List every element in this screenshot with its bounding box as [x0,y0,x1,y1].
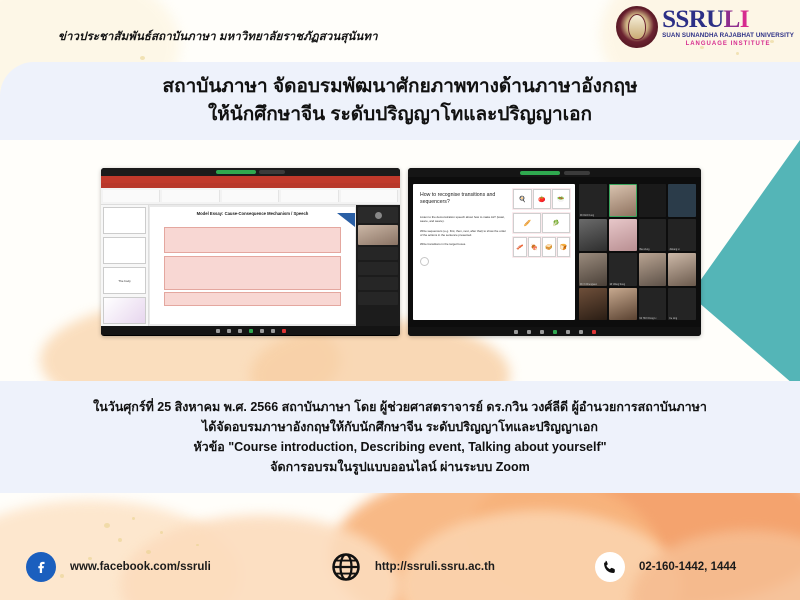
image-strip-row: 🍳 🍅 🥗 [512,188,571,210]
ribbon-group [222,190,279,202]
highlight-box [164,292,341,306]
footer-contact-row: www.facebook.com/ssruli http://ssruli.ss… [0,552,800,582]
slide-thumbnail[interactable]: The body [103,267,146,294]
participant-tile[interactable] [609,219,637,252]
footer-phone-item[interactable]: 02-160-1442, 1444 [595,552,736,582]
participant-name: Jinkang Li [669,249,679,251]
body-line-4: จัดการอบรมในรูปแบบออนไลน์ ผ่านระบบ Zoom [270,457,530,477]
participant-tile[interactable] [639,253,667,286]
slide-thumbnail[interactable] [103,237,146,264]
body-text-band: ในวันศุกร์ที่ 25 สิงหาคม พ.ศ. 2566 สถาบั… [0,381,800,493]
word-ribbon-body [101,188,400,205]
logo-wordmark: SSRULI SUAN SUNANDHA RAJABHAT UNIVERSITY… [662,7,794,46]
logo-l-text: L [724,6,740,33]
participant-tile[interactable] [609,288,637,321]
image-strip-row: 🥓 🍖 🥪 🍞 [512,236,571,258]
zoom-top-bar [408,168,701,177]
mute-icon[interactable] [216,329,220,333]
screenshot-word-share: The body Model Essay: Cause-Consequence … [101,168,400,336]
participant-tile[interactable] [579,288,607,321]
footer-facebook-item[interactable]: www.facebook.com/ssruli [26,552,211,582]
participant-tile[interactable] [639,184,667,217]
participants-icon[interactable] [238,329,242,333]
speaker-icon [420,257,429,266]
participant-name: Mr HCX Dong Li [640,318,657,320]
body-line-2: ได้จัดอบรมภาษาอังกฤษให้กับนักศึกษาจีน ระ… [202,417,598,437]
document-note [158,219,347,224]
slide-heading: How to recognise transitions and sequenc… [420,192,506,206]
end-meeting-icon[interactable] [592,330,596,334]
chat-icon[interactable] [566,330,570,334]
presenter-webcam-tile [358,225,398,245]
logo-i-text: I [740,6,749,33]
ribbon-group [162,190,219,202]
video-icon[interactable] [227,329,231,333]
phone-number-text[interactable]: 02-160-1442, 1444 [639,561,736,573]
image-cell: 🥗 [552,189,570,209]
participant-name: Mr Dinh Kung [580,215,594,217]
logo-main-text: SSRULI [662,7,794,32]
image-cell: 🍞 [557,237,570,257]
word-title-bar [101,176,400,183]
logo-institute-text: LANGUAGE INSTITUTE [662,41,794,47]
participant-name: Ce ning [669,318,677,320]
university-seal-icon [616,6,658,48]
zoom-stage: How to recognise transitions and sequenc… [408,177,701,327]
image-cell: 🍳 [513,189,531,209]
participant-tile[interactable] [609,184,637,217]
ribbon-group [341,190,398,202]
image-cell: 🥬 [542,213,570,233]
image-cell: 🍖 [528,237,541,257]
participant-tile[interactable]: Jinkang Li [668,219,696,252]
share-screen-icon[interactable] [553,330,557,334]
title-line-1: สถาบันภาษา จัดอบรมพัฒนาศักยภาพทางด้านภาษ… [163,73,638,101]
zoom-top-bar [101,168,400,176]
participant-gallery-grid: Mr Dinh Kung Bao Zeng Jinkang Li Mr Xi C… [579,184,696,320]
mute-icon[interactable] [514,330,518,334]
participant-name: Bao Zeng [640,249,650,251]
zoom-share-indicator [216,170,256,174]
word-document-page[interactable]: Model Essay: Cause-Consequence Mechanism… [150,207,355,324]
participant-tile [358,277,398,290]
slide-thumbnail[interactable] [103,207,146,234]
participant-name: Mr Xi Chengwen [580,284,597,286]
image-strip-row: 🥖 🥬 [512,212,571,234]
participant-avatar-tile [358,207,398,223]
zoom-stop-share-button [259,170,285,174]
website-url-text[interactable]: http://ssruli.ssru.ac.th [375,561,495,573]
zoom-control-bar [408,327,701,336]
body-line-1: ในวันศุกร์ที่ 25 สิงหาคม พ.ศ. 2566 สถาบั… [93,397,707,417]
highlight-box [164,256,341,290]
video-icon[interactable] [527,330,531,334]
zoom-view-button[interactable] [564,171,590,175]
highlight-box [164,227,341,253]
participant-tile[interactable]: Mr HCX Dong Li [639,288,667,321]
participant-tile[interactable]: Mr Dinh Kung [579,184,607,217]
body-line-3: หัวข้อ "Course introduction, Describing … [193,437,606,457]
image-cell: 🥪 [542,237,555,257]
poster-canvas: ข่าวประชาสัมพันธ์สถาบันภาษา มหาวิทยาลัยร… [0,0,800,600]
footer-website-item[interactable]: http://ssruli.ssru.ac.th [331,552,495,582]
reactions-icon[interactable] [579,330,583,334]
chat-icon[interactable] [260,329,264,333]
participant-tile[interactable]: Ce ning [668,288,696,321]
poster-header: ข่าวประชาสัมพันธ์สถาบันภาษา มหาวิทยาลัยร… [0,0,800,62]
image-cell: 🥓 [513,237,526,257]
participant-tile[interactable]: Bao Zeng [639,219,667,252]
participant-tile[interactable] [668,184,696,217]
end-meeting-icon[interactable] [282,329,286,333]
participant-tile[interactable]: Mr Wang Song [609,253,637,286]
ribbon-group [103,190,160,202]
logo-university-text: SUAN SUNANDHA RAJABHAT UNIVERSITY [662,33,794,39]
record-icon[interactable] [271,329,275,333]
slide-paragraph-1: Listen to the demonstration speech about… [420,215,506,224]
share-screen-icon[interactable] [249,329,253,333]
image-cell: 🥖 [513,213,541,233]
title-band: สถาบันภาษา จัดอบรมพัฒนาศักยภาพทางด้านภาษ… [0,62,800,140]
slide-image-column: 🍳 🍅 🥗 🥖 🥬 🥓 🍖 🥪 🍞 [512,188,571,316]
facebook-icon[interactable] [26,552,56,582]
header-kicker-text: ข่าวประชาสัมพันธ์สถาบันภาษา มหาวิทยาลัยร… [58,28,378,46]
word-workspace: The body Model Essay: Cause-Consequence … [101,205,400,326]
ssruli-logo: SSRULI SUAN SUNANDHA RAJABHAT UNIVERSITY… [616,6,794,48]
document-title: Model Essay: Cause-Consequence Mechanism… [150,211,355,216]
zoom-participant-sidebar [356,205,400,326]
ribbon-group [281,190,338,202]
logo-ssru-text: SSRU [662,6,724,33]
participant-tile [358,292,398,305]
participant-tile[interactable] [579,219,607,252]
image-cell: 🍅 [533,189,551,209]
phone-icon[interactable] [595,552,625,582]
slide-paragraph-2: Write sequencers (e.g. first, then, next… [420,229,506,238]
avatar [375,212,382,219]
participant-tile[interactable] [668,253,696,286]
participants-icon[interactable] [540,330,544,334]
screenshot-zoom-gallery: How to recognise transitions and sequenc… [408,168,701,336]
slide-text-column: How to recognise transitions and sequenc… [417,188,509,316]
globe-icon[interactable] [331,552,361,582]
poster-footer: www.facebook.com/ssruli http://ssruli.ss… [0,493,800,600]
participant-tile [358,262,398,275]
zoom-share-indicator [520,171,560,175]
slide-paragraph-3: Write transitions in the target boxes. [420,242,506,246]
teal-wedge-decoration [690,140,800,390]
page-corner-decoration [337,213,355,227]
shared-slide: How to recognise transitions and sequenc… [413,184,575,320]
participant-tile[interactable]: Mr Xi Chengwen [579,253,607,286]
participant-name: Mr Wang Song [610,284,625,286]
slide-thumbnail[interactable] [103,297,146,324]
zoom-control-bar [101,326,400,335]
facebook-url-text[interactable]: www.facebook.com/ssruli [70,561,211,573]
participant-tile [358,247,398,260]
title-line-2: ให้นักศึกษาจีน ระดับปริญญาโทและปริญญาเอก [208,101,592,129]
slide-thumbnail-pane: The body [101,205,149,326]
